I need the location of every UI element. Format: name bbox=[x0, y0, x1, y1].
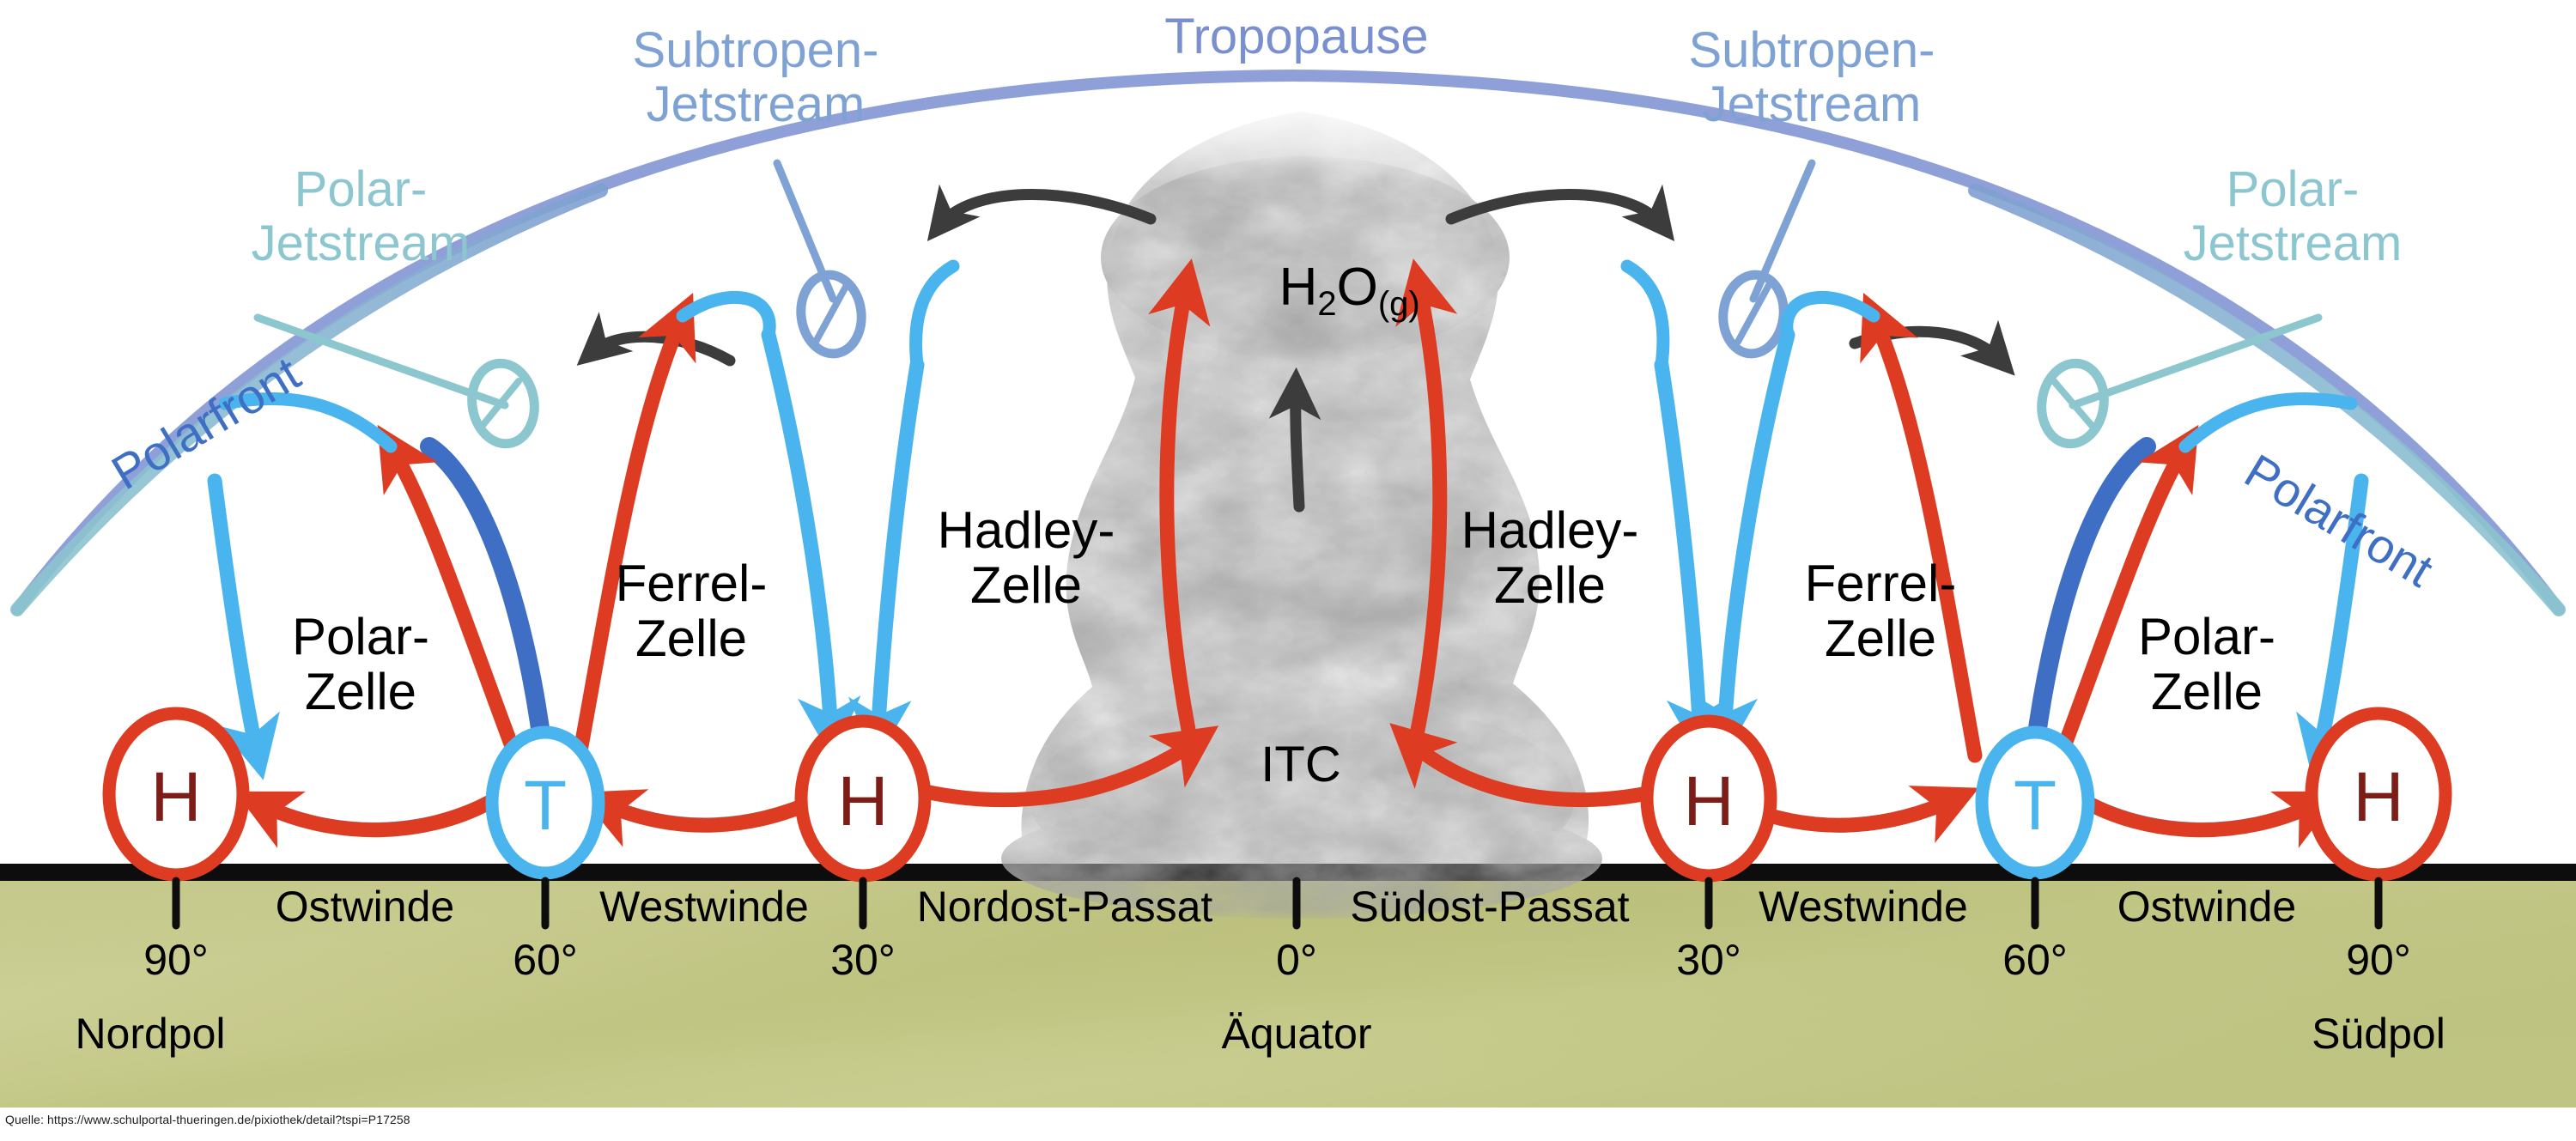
label-itc: ITC bbox=[1202, 738, 1400, 791]
diagram-canvas: H T H H T bbox=[0, 0, 2576, 1141]
label-subtropen-jetstream-right: Subtropen- Jetstream bbox=[1640, 24, 1984, 131]
label-polar-jetstream-right: Polar- Jetstream bbox=[2138, 163, 2447, 270]
water-vapour-state: (g) bbox=[1378, 285, 1420, 323]
wind-band-ostwinde-north: Ostwinde bbox=[210, 884, 519, 930]
label-tropopause: Tropopause bbox=[1151, 10, 1443, 64]
wind-band-westwinde-north: Westwinde bbox=[550, 884, 859, 930]
label-ferrel-zelle-south: Ferrel- Zelle bbox=[1739, 556, 2022, 665]
wind-band-nordost-passat: Nordost-Passat bbox=[884, 884, 1245, 930]
water-vapour-h: H bbox=[1279, 258, 1318, 317]
pole-label-aequator: Äquator bbox=[1142, 1011, 1451, 1057]
label-polar-jetstream-left: Polar- Jetstream bbox=[206, 163, 515, 270]
label-water-vapour: H2O(g) bbox=[1176, 203, 1434, 379]
water-vapour-o: O bbox=[1337, 258, 1378, 317]
label-hadley-zelle-south: Hadley- Zelle bbox=[1408, 503, 1692, 612]
label-hadley-zelle-north: Hadley- Zelle bbox=[884, 503, 1168, 612]
degree-label-90s: 90° bbox=[2250, 938, 2507, 983]
degree-label-90n: 90° bbox=[47, 938, 305, 983]
wind-band-suedost-passat: Südost-Passat bbox=[1309, 884, 1670, 930]
label-subtropen-jetstream-left: Subtropen- Jetstream bbox=[584, 24, 927, 131]
degree-label-60n: 60° bbox=[416, 938, 674, 983]
label-polar-zelle-north: Polar- Zelle bbox=[219, 610, 502, 719]
label-polar-zelle-south: Polar- Zelle bbox=[2065, 610, 2348, 719]
wind-band-westwinde-south: Westwinde bbox=[1709, 884, 2018, 930]
label-ferrel-zelle-north: Ferrel- Zelle bbox=[550, 556, 833, 665]
source-credit: Quelle: https://www.schulportal-thuering… bbox=[5, 1113, 410, 1126]
atmospheric-circulation-diagram: H T H H T bbox=[0, 0, 2576, 1108]
pole-label-suedpol: Südpol bbox=[2224, 1011, 2533, 1057]
degree-label-30s: 30° bbox=[1580, 938, 1838, 983]
pole-label-nordpol: Nordpol bbox=[0, 1011, 305, 1057]
degree-label-30n: 30° bbox=[734, 938, 992, 983]
degree-label-60s: 60° bbox=[1906, 938, 2164, 983]
water-vapour-subscript-2: 2 bbox=[1317, 285, 1336, 323]
degree-label-0: 0° bbox=[1168, 938, 1425, 983]
wind-band-ostwinde-south: Ostwinde bbox=[2052, 884, 2361, 930]
